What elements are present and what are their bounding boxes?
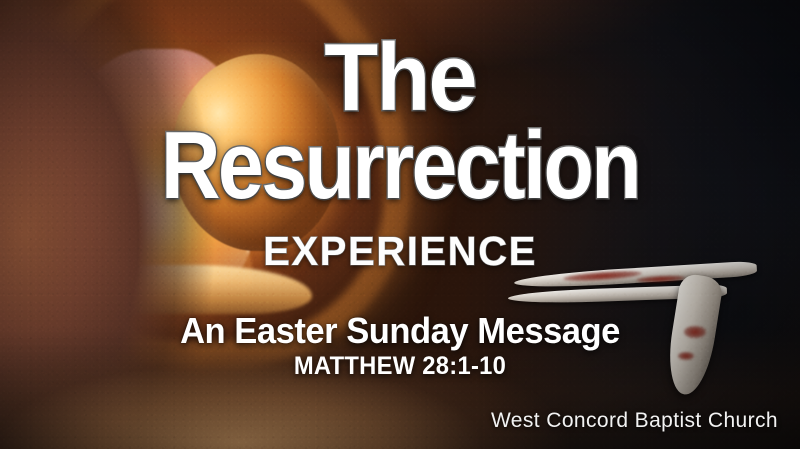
title-line-experience: EXPERIENCE — [8, 231, 792, 272]
church-name-credit: West Concord Baptist Church — [491, 410, 778, 431]
scripture-reference: MATTHEW 28:1-10 — [20, 354, 780, 379]
subtitle-message: An Easter Sunday Message — [16, 313, 784, 349]
text-overlay: The Resurrection EXPERIENCE An Easter Su… — [0, 0, 800, 449]
sermon-title-slide: The Resurrection EXPERIENCE An Easter Su… — [0, 0, 800, 449]
title-line-resurrection: Resurrection — [56, 118, 744, 214]
